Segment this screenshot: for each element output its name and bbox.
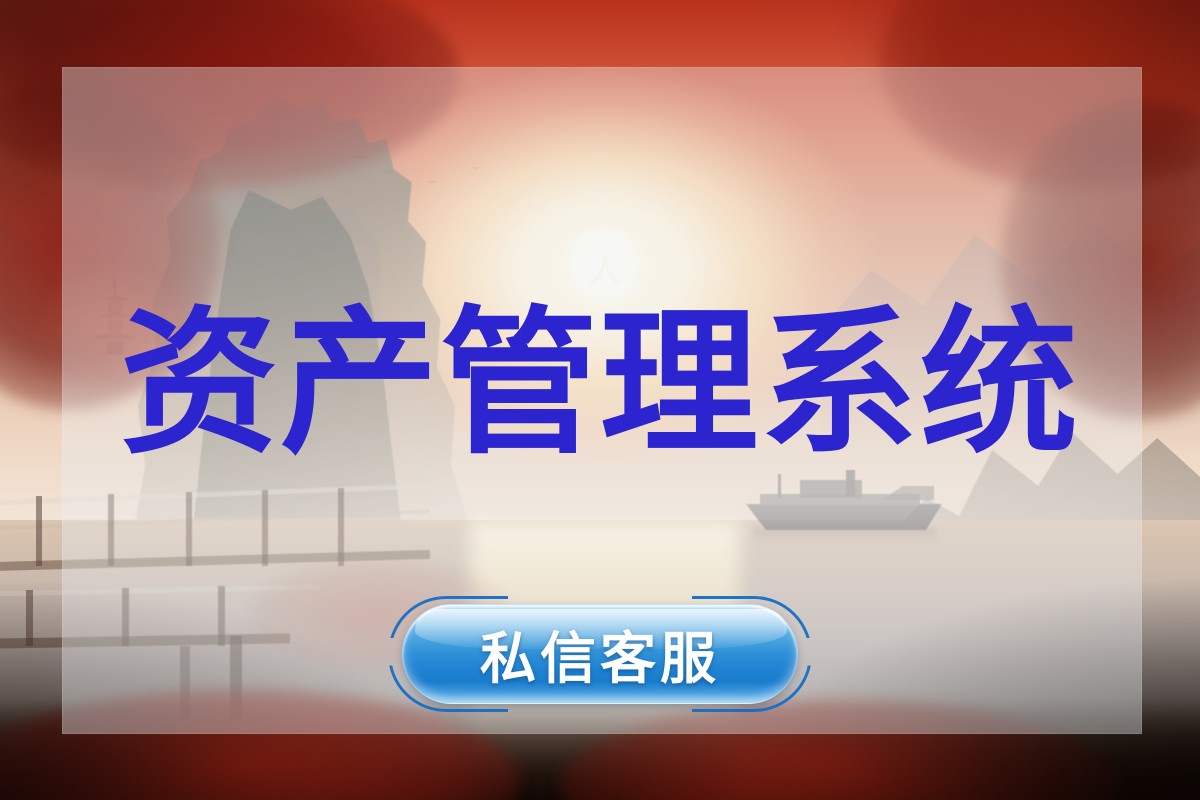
cta-button-group: 私信客服 [380,590,820,718]
page-title: 资产管理系统 [0,300,1200,468]
contact-support-button[interactable]: 私信客服 [402,604,798,704]
contact-support-label: 私信客服 [403,605,797,703]
banner-image: 人 [0,0,1200,800]
